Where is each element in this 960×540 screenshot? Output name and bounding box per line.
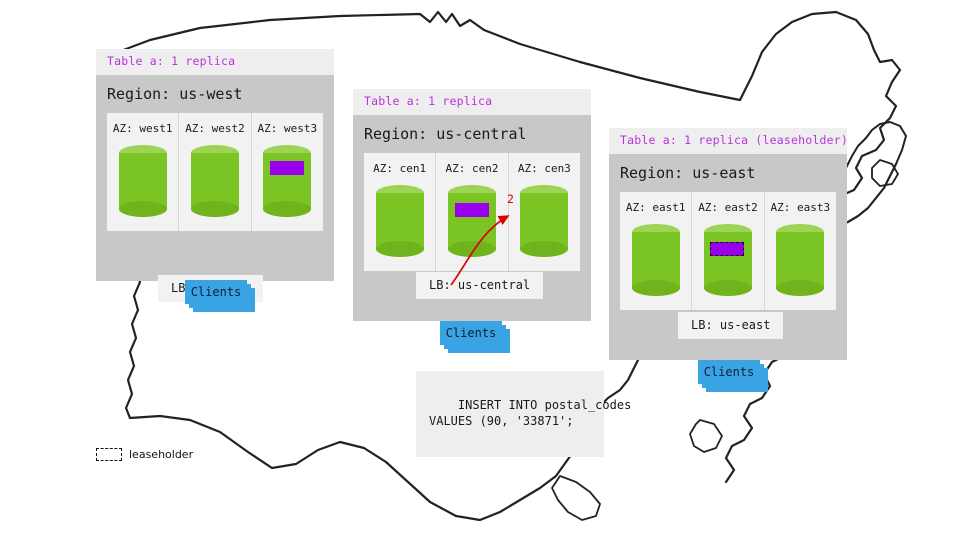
clients-stack-us-central[interactable]: Clients bbox=[440, 321, 512, 355]
az-label-east2: AZ: east2 bbox=[698, 201, 758, 214]
clients-button-us-east[interactable]: Clients bbox=[698, 360, 760, 384]
cylinder-bottom bbox=[119, 201, 167, 217]
region-label-us-west: Region: us-west bbox=[96, 75, 334, 113]
load-balancer-us-east[interactable]: LB: us-east bbox=[678, 312, 783, 339]
cylinder-bottom bbox=[376, 241, 424, 257]
node-cylinder-cen2[interactable] bbox=[448, 185, 496, 257]
clients-button-us-central[interactable]: Clients bbox=[440, 321, 502, 345]
cylinder-bottom bbox=[263, 201, 311, 217]
clients-label: Clients bbox=[446, 327, 497, 339]
az-cell-east1[interactable]: AZ: east1 bbox=[620, 192, 692, 310]
az-cell-west2[interactable]: AZ: west2 bbox=[179, 113, 251, 231]
legend: leaseholder bbox=[96, 448, 193, 461]
node-cylinder-west3[interactable] bbox=[263, 145, 311, 217]
az-cell-east2[interactable]: AZ: east2 bbox=[692, 192, 764, 310]
region-panel-us-central: Table a: 1 replica Region: us-central AZ… bbox=[353, 89, 591, 321]
az-cell-west3[interactable]: AZ: west3 bbox=[252, 113, 323, 231]
cylinder-bottom bbox=[191, 201, 239, 217]
az-cell-east3[interactable]: AZ: east3 bbox=[765, 192, 836, 310]
dashed-rectangle-swatch-icon bbox=[96, 448, 122, 461]
panel-title-us-central: Table a: 1 replica bbox=[353, 89, 591, 115]
az-strip-us-east: AZ: east1 AZ: east2 bbox=[620, 192, 836, 310]
legend-label: leaseholder bbox=[129, 449, 193, 460]
region-label-us-central: Region: us-central bbox=[353, 115, 591, 153]
az-cell-cen2[interactable]: AZ: cen2 bbox=[436, 153, 508, 271]
clients-label: Clients bbox=[191, 286, 242, 298]
region-panel-us-east: Table a: 1 replica (leaseholder) Region:… bbox=[609, 128, 847, 360]
az-cell-cen3[interactable]: AZ: cen3 bbox=[509, 153, 580, 271]
node-cylinder-east3[interactable] bbox=[776, 224, 824, 296]
az-cell-cen1[interactable]: AZ: cen1 bbox=[364, 153, 436, 271]
clients-stack-us-west[interactable]: Clients bbox=[185, 280, 257, 314]
panel-body-us-west: Region: us-west AZ: west1 AZ: west2 bbox=[96, 75, 334, 281]
cylinder-bottom bbox=[776, 280, 824, 296]
node-cylinder-west1[interactable] bbox=[119, 145, 167, 217]
az-label-west3: AZ: west3 bbox=[258, 122, 318, 135]
panel-title-us-west: Table a: 1 replica bbox=[96, 49, 334, 75]
az-label-east1: AZ: east1 bbox=[626, 201, 686, 214]
lb-label: LB: us-east bbox=[691, 318, 770, 332]
node-cylinder-east1[interactable] bbox=[632, 224, 680, 296]
sql-text: INSERT INTO postal_codes VALUES (90, '33… bbox=[429, 398, 631, 428]
cylinder-bottom bbox=[632, 280, 680, 296]
replica-block-east2-leaseholder[interactable] bbox=[710, 242, 744, 256]
replica-block-west3[interactable] bbox=[270, 161, 304, 175]
load-balancer-us-central[interactable]: LB: us-central bbox=[416, 272, 543, 299]
node-cylinder-cen3[interactable] bbox=[520, 185, 568, 257]
cylinder-bottom bbox=[520, 241, 568, 257]
lb-label: LB: us-central bbox=[429, 278, 530, 292]
node-cylinder-west2[interactable] bbox=[191, 145, 239, 217]
az-cell-west1[interactable]: AZ: west1 bbox=[107, 113, 179, 231]
clients-button-us-west[interactable]: Clients bbox=[185, 280, 247, 304]
az-label-cen1: AZ: cen1 bbox=[373, 162, 426, 175]
arrow-label-text: 2 bbox=[507, 192, 514, 206]
clients-label: Clients bbox=[704, 366, 755, 378]
az-strip-us-central: AZ: cen1 AZ: cen2 bbox=[364, 153, 580, 271]
az-label-cen2: AZ: cen2 bbox=[446, 162, 499, 175]
sql-statement-box: INSERT INTO postal_codes VALUES (90, '33… bbox=[416, 371, 604, 457]
az-label-cen3: AZ: cen3 bbox=[518, 162, 571, 175]
az-strip-us-west: AZ: west1 AZ: west2 AZ bbox=[107, 113, 323, 231]
node-cylinder-cen1[interactable] bbox=[376, 185, 424, 257]
node-cylinder-east2[interactable] bbox=[704, 224, 752, 296]
panel-title-us-east: Table a: 1 replica (leaseholder) bbox=[609, 128, 847, 154]
region-panel-us-west: Table a: 1 replica Region: us-west AZ: w… bbox=[96, 49, 334, 281]
az-label-west1: AZ: west1 bbox=[113, 122, 173, 135]
region-label-us-east: Region: us-east bbox=[609, 154, 847, 192]
replica-block-cen2[interactable] bbox=[455, 203, 489, 217]
cylinder-bottom bbox=[704, 280, 752, 296]
arrow-step-label-2: 2 bbox=[507, 194, 514, 206]
az-label-east3: AZ: east3 bbox=[771, 201, 831, 214]
cylinder-bottom bbox=[448, 241, 496, 257]
clients-stack-us-east[interactable]: Clients bbox=[698, 360, 770, 394]
diagram-canvas: Table a: 1 replica Region: us-west AZ: w… bbox=[0, 0, 960, 540]
az-label-west2: AZ: west2 bbox=[185, 122, 245, 135]
